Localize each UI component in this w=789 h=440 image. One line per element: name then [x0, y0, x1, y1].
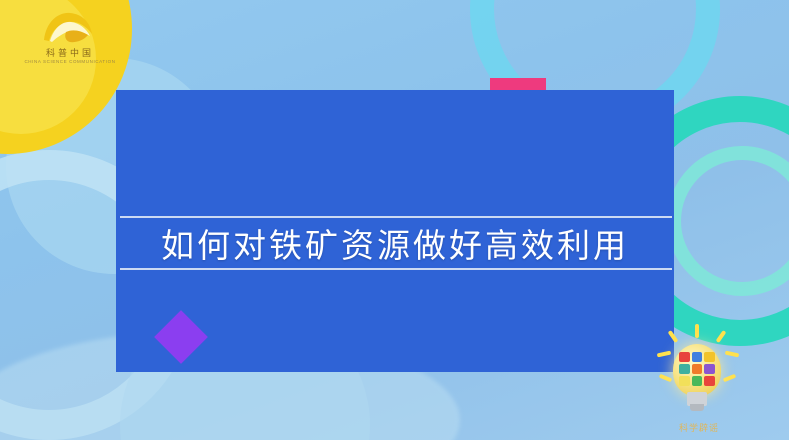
- banner-title-text: 如何对铁矿资源做好高效利用: [116, 218, 674, 268]
- bulb-base-tip-icon: [690, 404, 704, 411]
- bulb-ray-icon: [659, 374, 673, 383]
- watermark-caption: 科学辟谣: [643, 421, 755, 434]
- bulb-ray-icon: [695, 324, 699, 338]
- logo-mark-icon: [40, 10, 96, 44]
- bulb-ray-icon: [657, 351, 672, 358]
- bulb-ray-icon: [725, 351, 740, 358]
- banner-rule-bottom: [120, 268, 672, 270]
- video-frame: 如何对铁矿资源做好高效利用 科普中国 CHINA SCIENCE COMMUNI…: [0, 0, 789, 440]
- bulb-ray-icon: [723, 374, 737, 383]
- bulb-grid-icon: [679, 352, 715, 386]
- logo-subtext: CHINA SCIENCE COMMUNICATION: [18, 59, 122, 64]
- bulb-ray-icon: [716, 330, 727, 343]
- lightbulb-watermark: 科学辟谣: [643, 324, 755, 434]
- logo-text: 科普中国: [18, 46, 122, 59]
- bulb-ray-icon: [668, 330, 679, 343]
- logo: 科普中国 CHINA SCIENCE COMMUNICATION: [18, 10, 122, 70]
